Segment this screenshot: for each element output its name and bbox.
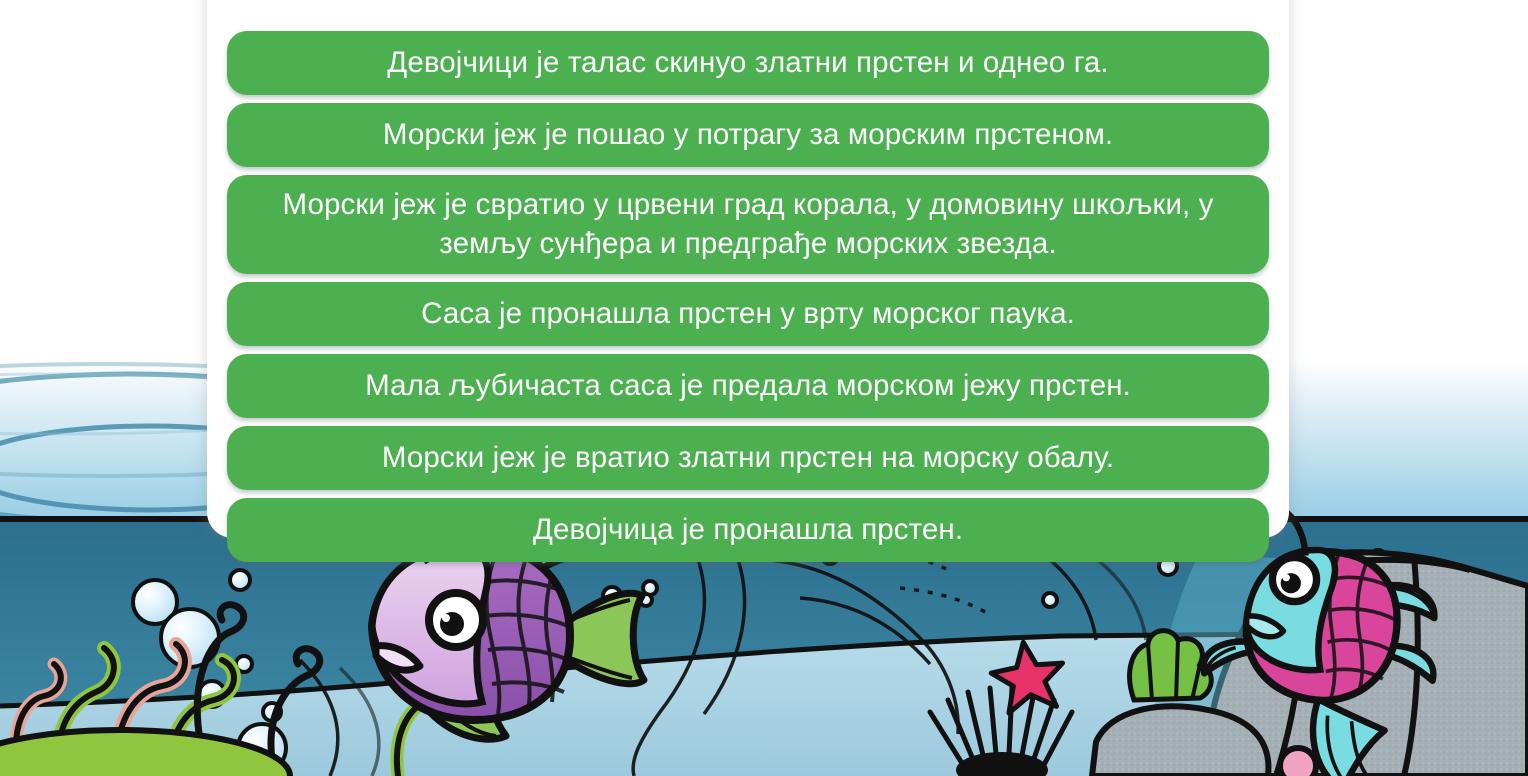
page-root: Девојчици је талас скинуо златни прстен … bbox=[0, 0, 1528, 776]
fish-eye-right bbox=[1272, 557, 1316, 601]
pink-anemone bbox=[1280, 748, 1316, 776]
story-card-text: Морски јеж је вратио златни прстен на мо… bbox=[253, 439, 1243, 477]
story-card-text: Морски јеж је свратио у црвени град кора… bbox=[253, 186, 1243, 263]
story-card[interactable]: Девојчица је пронашла прстен. bbox=[227, 498, 1269, 562]
story-card-text: Морски јеж је пошао у потрагу за морским… bbox=[253, 116, 1243, 154]
story-sequence-panel: Девојчици је талас скинуо златни прстен … bbox=[207, 0, 1289, 538]
story-card[interactable]: Морски јеж је свратио у црвени град кора… bbox=[227, 175, 1269, 274]
fish-eye-left bbox=[429, 593, 483, 647]
story-card[interactable]: Морски јеж је пошао у потрагу за морским… bbox=[227, 103, 1269, 167]
story-card[interactable]: Саса је пронашла прстен у врту морског п… bbox=[227, 282, 1269, 346]
story-card-text: Девојчици је талас скинуо златни прстен … bbox=[253, 44, 1243, 82]
story-card[interactable]: Морски јеж је вратио златни прстен на мо… bbox=[227, 426, 1269, 490]
story-card[interactable]: Мала љубичаста саса је предала морском ј… bbox=[227, 354, 1269, 418]
story-card[interactable]: Девојчици је талас скинуо златни прстен … bbox=[227, 31, 1269, 95]
story-card-text: Девојчица је пронашла прстен. bbox=[253, 511, 1243, 549]
story-card-text: Саса је пронашла прстен у врту морског п… bbox=[253, 295, 1243, 333]
story-card-text: Мала љубичаста саса је предала морском ј… bbox=[253, 367, 1243, 405]
